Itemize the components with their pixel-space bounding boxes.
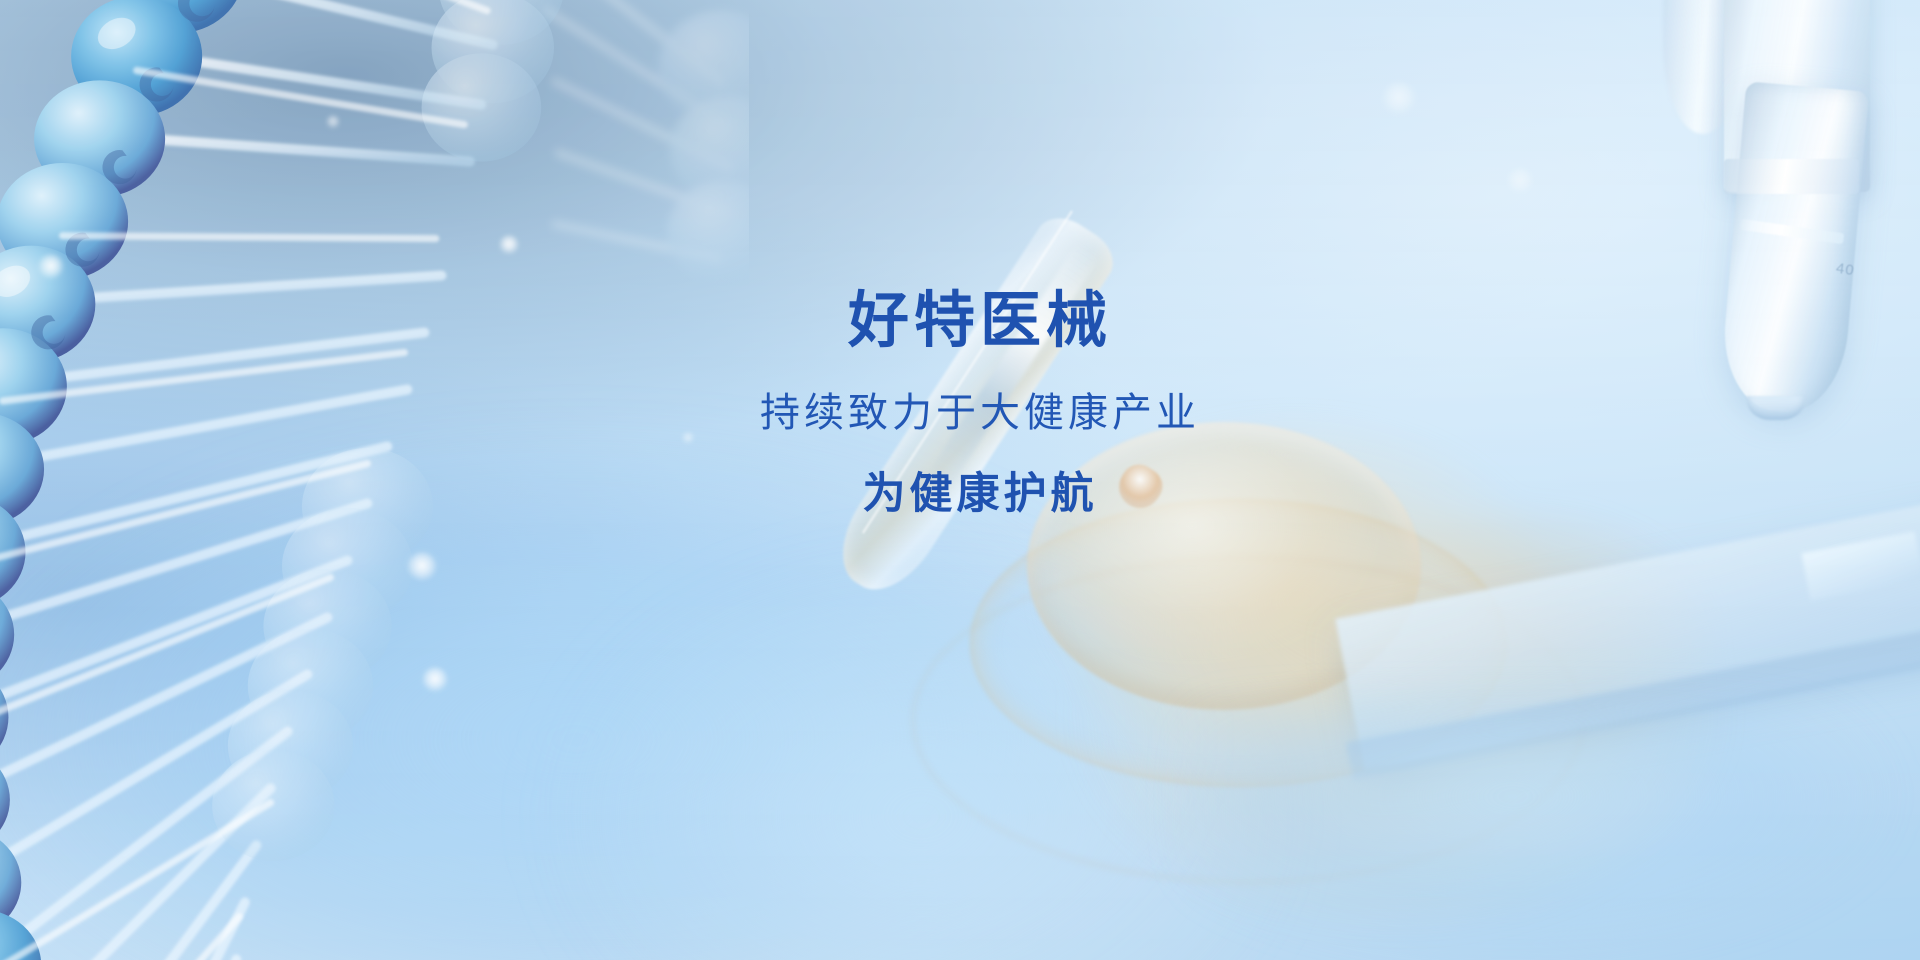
bench-sheen: [1190, 710, 1920, 960]
bokeh-highlight: [682, 432, 694, 444]
microscope-collar: [1724, 159, 1858, 194]
dna-helix-icon: [0, 0, 749, 960]
microscope-magnification-label: 40: [1835, 260, 1856, 279]
hero-banner: 40: [0, 0, 1920, 960]
bokeh-highlight: [1382, 82, 1416, 116]
bokeh-highlight: [1507, 168, 1533, 194]
bokeh-highlight: [407, 552, 437, 582]
